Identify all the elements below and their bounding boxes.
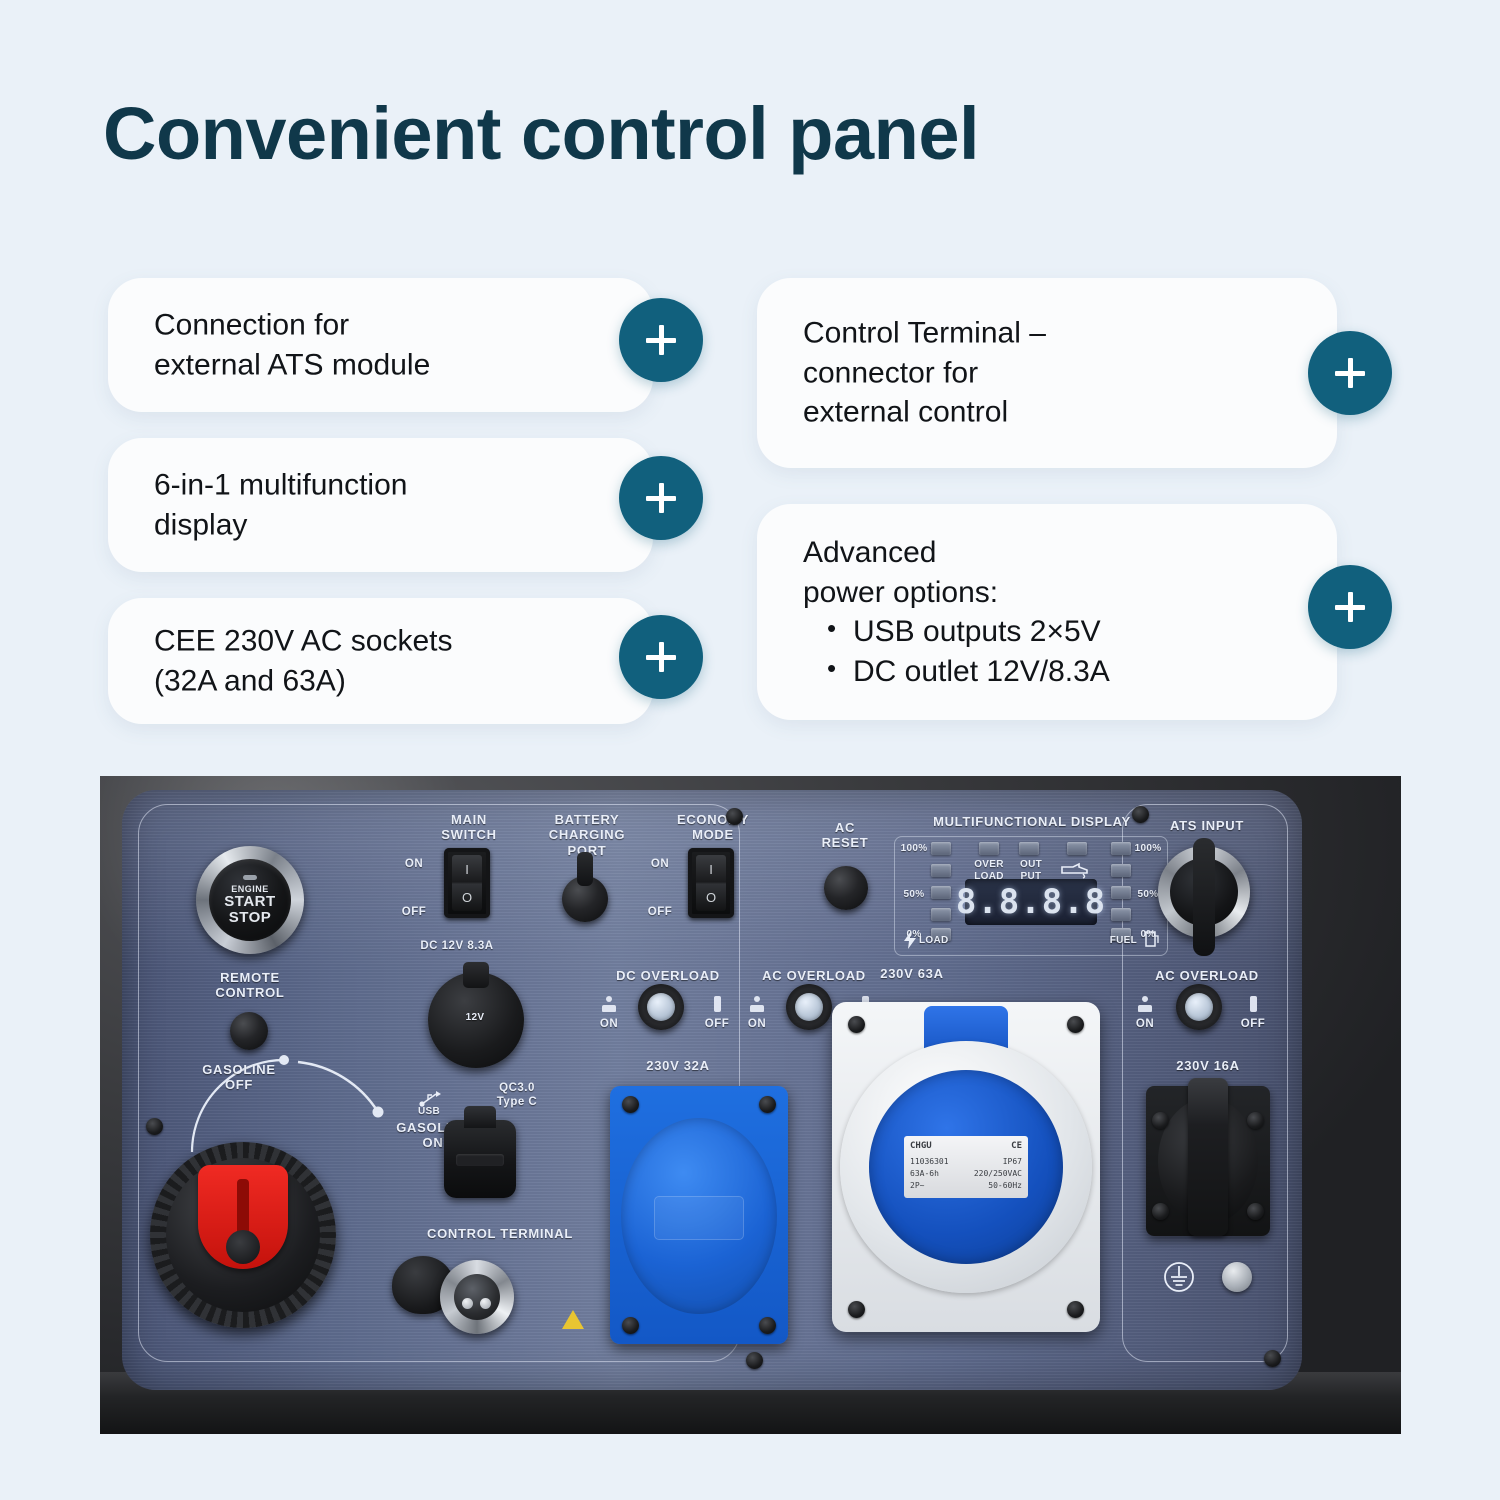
economy-mode-label: ECONOMY MODE (658, 812, 768, 843)
faceplate-screw-top-center (726, 808, 743, 825)
control-terminal-pin-1 (462, 1298, 473, 1309)
warning-triangle-icon (562, 1310, 584, 1329)
socket-32a-label: 230V 32A (608, 1058, 748, 1073)
socket-63a-screw-br (1067, 1301, 1084, 1318)
card-power-bullet-usb: USB outputs 2×5V (809, 612, 1273, 652)
cee-socket-32a[interactable] (610, 1086, 788, 1344)
output-indicator-led (1019, 842, 1039, 855)
control-terminal-core (454, 1274, 500, 1320)
faceplate-screw-top-right (1132, 806, 1149, 823)
card-sockets-text: CEE 230V AC sockets (32A and 63A) (154, 621, 624, 700)
ac-overload-right-breaker[interactable] (1176, 984, 1222, 1030)
ac-overload-right-off-label: OFF (1232, 1018, 1274, 1032)
load-led-2 (931, 864, 951, 877)
load-led-4 (931, 908, 951, 921)
socket-63a-poles: 2P~ (910, 1180, 924, 1192)
card-ats-line1: Connection for (154, 305, 624, 345)
expand-ats-button[interactable] (619, 298, 703, 382)
oil-indicator-led (1067, 842, 1087, 855)
main-switch-on-symbol: I (465, 862, 469, 877)
fuel-valve-hub (226, 1230, 260, 1264)
socket-63a-screw-tr (1067, 1016, 1084, 1033)
socket-16a-label: 230V 16A (1128, 1058, 1288, 1073)
fuel-valve-face (166, 1158, 320, 1312)
dc-overload-off-icon (710, 996, 724, 1012)
economy-mode-rocker-face: I O (696, 855, 726, 911)
multifunctional-display-module: 100% 50% 0% 100% 50% 0% OVER LOAD OUT PU… (894, 836, 1168, 956)
ats-input-label: ATS INPUT (1132, 818, 1282, 833)
expand-terminal-button[interactable] (1308, 331, 1392, 415)
fuel-led-4 (1111, 908, 1131, 921)
economy-on-symbol: I (709, 862, 713, 877)
socket-63a-ce-mark: CE (1011, 1140, 1022, 1154)
ac-overload-on-label: ON (736, 1018, 778, 1032)
card-multifunction-display[interactable]: 6-in-1 multifunction display (108, 438, 653, 572)
control-terminal-connector[interactable] (440, 1260, 514, 1334)
battery-port-strap (577, 852, 593, 886)
fuel-label: FUEL (1091, 935, 1137, 947)
socket-63a-screw-bl (848, 1301, 865, 1318)
overload-indicator-led (979, 842, 999, 855)
ats-input-strap (1193, 838, 1215, 956)
schuko-screw-tl (1152, 1112, 1169, 1129)
socket-63a-code: 11036301 (910, 1156, 949, 1168)
main-switch-rocker[interactable]: I O (444, 848, 490, 918)
main-switch-label: MAIN SWITCH (414, 812, 524, 843)
schuko-screw-tr (1247, 1112, 1264, 1129)
economy-mode-rocker[interactable]: I O (688, 848, 734, 918)
faceplate-screw-bottom-right (1264, 1350, 1281, 1367)
main-switch-off-label: OFF (392, 906, 436, 920)
fuel-led-1 (1111, 842, 1131, 855)
faceplate: ENGINE START STOP REMOTE CONTROL GASOLIN… (122, 790, 1302, 1390)
fuel-scale-100-label: 100% (1133, 843, 1163, 855)
card-terminal-line1: Control Terminal – (803, 314, 1273, 354)
control-panel-photo: ENGINE START STOP REMOTE CONTROL GASOLIN… (100, 776, 1401, 1434)
socket-63a-cap: CHGU CE 11036301 IP67 63A-6h 220/250VAC … (869, 1070, 1063, 1264)
feature-cards: Connection for external ATS module 6-in-… (0, 0, 1500, 760)
multifunctional-display-title: MULTIFUNCTIONAL DISPLAY (892, 814, 1172, 829)
stop-label: STOP (229, 910, 272, 926)
dc-outlet-mark: 12V (452, 1012, 498, 1024)
socket-32a-screw-br (759, 1317, 776, 1334)
fuel-valve-knob[interactable] (150, 1142, 336, 1328)
economy-off-symbol: O (706, 890, 716, 905)
earth-terminal-screw[interactable] (1222, 1262, 1252, 1292)
usb-icon (418, 1088, 444, 1108)
card-ats-connection[interactable]: Connection for external ATS module (108, 278, 653, 412)
card-power-line2: power options: (803, 572, 1273, 612)
ac-overload-right-label: AC OVERLOAD (1122, 968, 1292, 983)
card-power-bullet-dc: DC outlet 12V/8.3A (809, 652, 1273, 692)
ac-reset-label: AC RESET (790, 820, 900, 851)
dc-rating-label: DC 12V 8.3A (392, 940, 522, 954)
socket-63a-ip-rating: IP67 (1003, 1156, 1022, 1168)
schuko-socket-16a[interactable] (1146, 1086, 1270, 1236)
economy-on-label: ON (640, 858, 680, 872)
control-terminal-label: CONTROL TERMINAL (410, 1226, 590, 1241)
socket-63a-voltage: 220/250VAC (974, 1168, 1022, 1180)
socket-32a-screw-tr (759, 1096, 776, 1113)
remote-control-label: REMOTE CONTROL (190, 970, 310, 1001)
seven-segment-screen: 8.8.8.8 (965, 879, 1097, 925)
socket-63a-brand: CHGU (910, 1140, 932, 1154)
card-sockets-line2: (32A and 63A) (154, 661, 624, 701)
load-scale-50-label: 50% (899, 889, 929, 901)
dc-overload-off-label: OFF (696, 1018, 738, 1032)
dc-overload-breaker[interactable] (638, 984, 684, 1030)
faceplate-screw-left (146, 1118, 163, 1135)
cee-socket-63a[interactable]: CHGU CE 11036301 IP67 63A-6h 220/250VAC … (832, 1002, 1100, 1332)
oil-can-icon (1059, 861, 1091, 879)
ac-reset-button[interactable] (824, 866, 868, 910)
socket-32a-lid (621, 1118, 777, 1314)
schuko-flap-cover[interactable] (1188, 1078, 1228, 1236)
fuel-pump-icon (1145, 930, 1159, 948)
card-display-line2: display (154, 505, 624, 545)
card-power-text: Advanced power options: USB outputs 2×5V… (803, 533, 1273, 691)
load-scale-100-label: 100% (899, 843, 929, 855)
schuko-screw-br (1247, 1203, 1264, 1220)
card-display-line1: 6-in-1 multifunction (154, 465, 624, 505)
economy-off-label: OFF (638, 906, 682, 920)
fuel-led-3 (1111, 886, 1131, 899)
socket-32a-embossed-plate (654, 1196, 744, 1240)
card-ats-text: Connection for external ATS module (154, 305, 624, 384)
socket-63a-label: 230V 63A (822, 966, 1002, 981)
schuko-screw-bl (1152, 1203, 1169, 1220)
dc-overload-on-label: ON (588, 1018, 630, 1032)
load-led-3 (931, 886, 951, 899)
display-digits: 8.8.8.8 (956, 882, 1106, 922)
ac-overload-right-off-icon (1246, 996, 1260, 1012)
socket-32a-screw-bl (622, 1317, 639, 1334)
main-switch-off-symbol: O (462, 890, 472, 905)
earth-ground-icon (1162, 1260, 1196, 1294)
card-terminal-line2: connector for (803, 353, 1273, 393)
socket-63a-screw-tl (848, 1016, 865, 1033)
ac-overload-right-on-label: ON (1124, 1018, 1166, 1032)
control-terminal-pin-2 (480, 1298, 491, 1309)
gasoline-off-label: GASOLINE OFF (184, 1062, 294, 1093)
ac-overload-on-icon (750, 996, 764, 1012)
card-terminal-line3: external control (803, 393, 1273, 433)
load-label: LOAD (919, 935, 965, 947)
expand-sockets-button[interactable] (619, 615, 703, 699)
ac-overload-right-on-icon (1138, 996, 1152, 1012)
socket-63a-rating-label: CHGU CE 11036301 IP67 63A-6h 220/250VAC … (904, 1136, 1028, 1198)
start-label: START (224, 894, 275, 910)
card-power-bullets: USB outputs 2×5V DC outlet 12V/8.3A (803, 612, 1273, 691)
main-switch-on-label: ON (394, 858, 434, 872)
dc-overload-on-icon (602, 996, 616, 1012)
card-ats-line2: external ATS module (154, 345, 624, 385)
card-power-line1: Advanced (803, 533, 1273, 573)
dc-overload-label: DC OVERLOAD (588, 968, 748, 983)
card-control-terminal[interactable]: Control Terminal – connector for externa… (757, 278, 1337, 468)
ac-overload-breaker[interactable] (786, 984, 832, 1030)
card-display-text: 6-in-1 multifunction display (154, 465, 624, 544)
socket-32a-screw-tl (622, 1096, 639, 1113)
fuel-led-2 (1111, 864, 1131, 877)
engine-led-icon (243, 875, 257, 880)
lightning-bolt-icon (903, 931, 917, 949)
expand-power-button[interactable] (1308, 565, 1392, 649)
usb-text-label: USB (414, 1106, 444, 1118)
load-led-1 (931, 842, 951, 855)
main-switch-rocker-face: I O (452, 855, 482, 911)
card-sockets-line1: CEE 230V AC sockets (154, 621, 624, 661)
usb-port-cover[interactable] (444, 1120, 516, 1198)
engine-start-stop-button[interactable]: ENGINE START STOP (196, 846, 304, 954)
card-advanced-power-options[interactable]: Advanced power options: USB outputs 2×5V… (757, 504, 1337, 720)
socket-63a-frequency: 50-60Hz (988, 1180, 1022, 1192)
card-terminal-text: Control Terminal – connector for externa… (803, 314, 1273, 433)
socket-63a-current: 63A-6h (910, 1168, 939, 1180)
engine-start-stop-face: ENGINE START STOP (209, 859, 291, 941)
expand-display-button[interactable] (619, 456, 703, 540)
card-cee-sockets[interactable]: CEE 230V AC sockets (32A and 63A) (108, 598, 653, 724)
usb-cover-tab (464, 1106, 496, 1128)
faceplate-screw-bottom-center (746, 1352, 763, 1369)
